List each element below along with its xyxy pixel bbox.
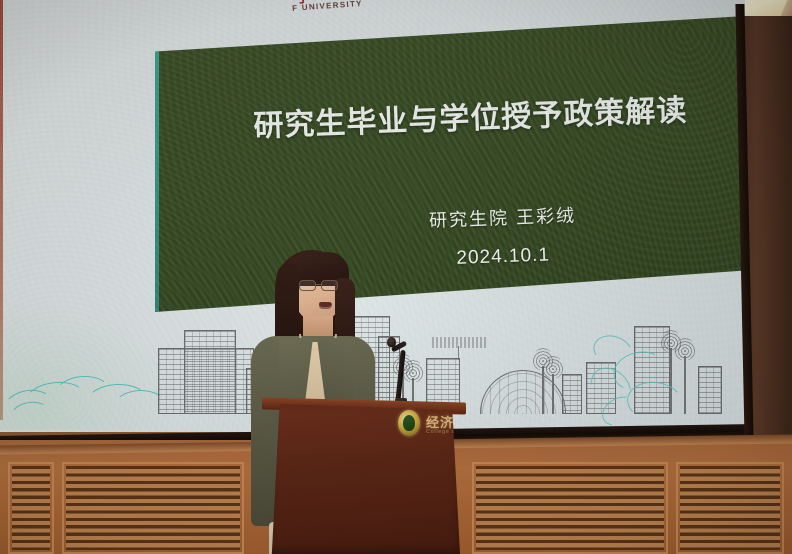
college-crest-icon xyxy=(398,410,420,436)
wave-ornament xyxy=(2,316,172,428)
campus-sign xyxy=(432,337,488,348)
glasses-icon xyxy=(299,280,343,291)
slide-date: 2024.10.1 xyxy=(456,237,745,270)
podium: 经济管理学院 College of Economics & Management xyxy=(268,404,460,554)
wall-louver xyxy=(472,462,668,554)
wall-louver xyxy=(62,462,244,554)
lecture-hall-scene: 研究生毕业与学位授予政策解读 研究生院 王彩绒 2024.10.1 xyxy=(0,0,792,554)
mouth xyxy=(319,302,332,309)
slide-title: 研究生毕业与学位授予政策解读 xyxy=(253,84,734,146)
slide-presenter: 研究生院 王彩绒 xyxy=(429,195,745,233)
wall-louver xyxy=(8,462,54,554)
wall-louver xyxy=(676,462,784,554)
swirl-ornament xyxy=(587,330,697,430)
